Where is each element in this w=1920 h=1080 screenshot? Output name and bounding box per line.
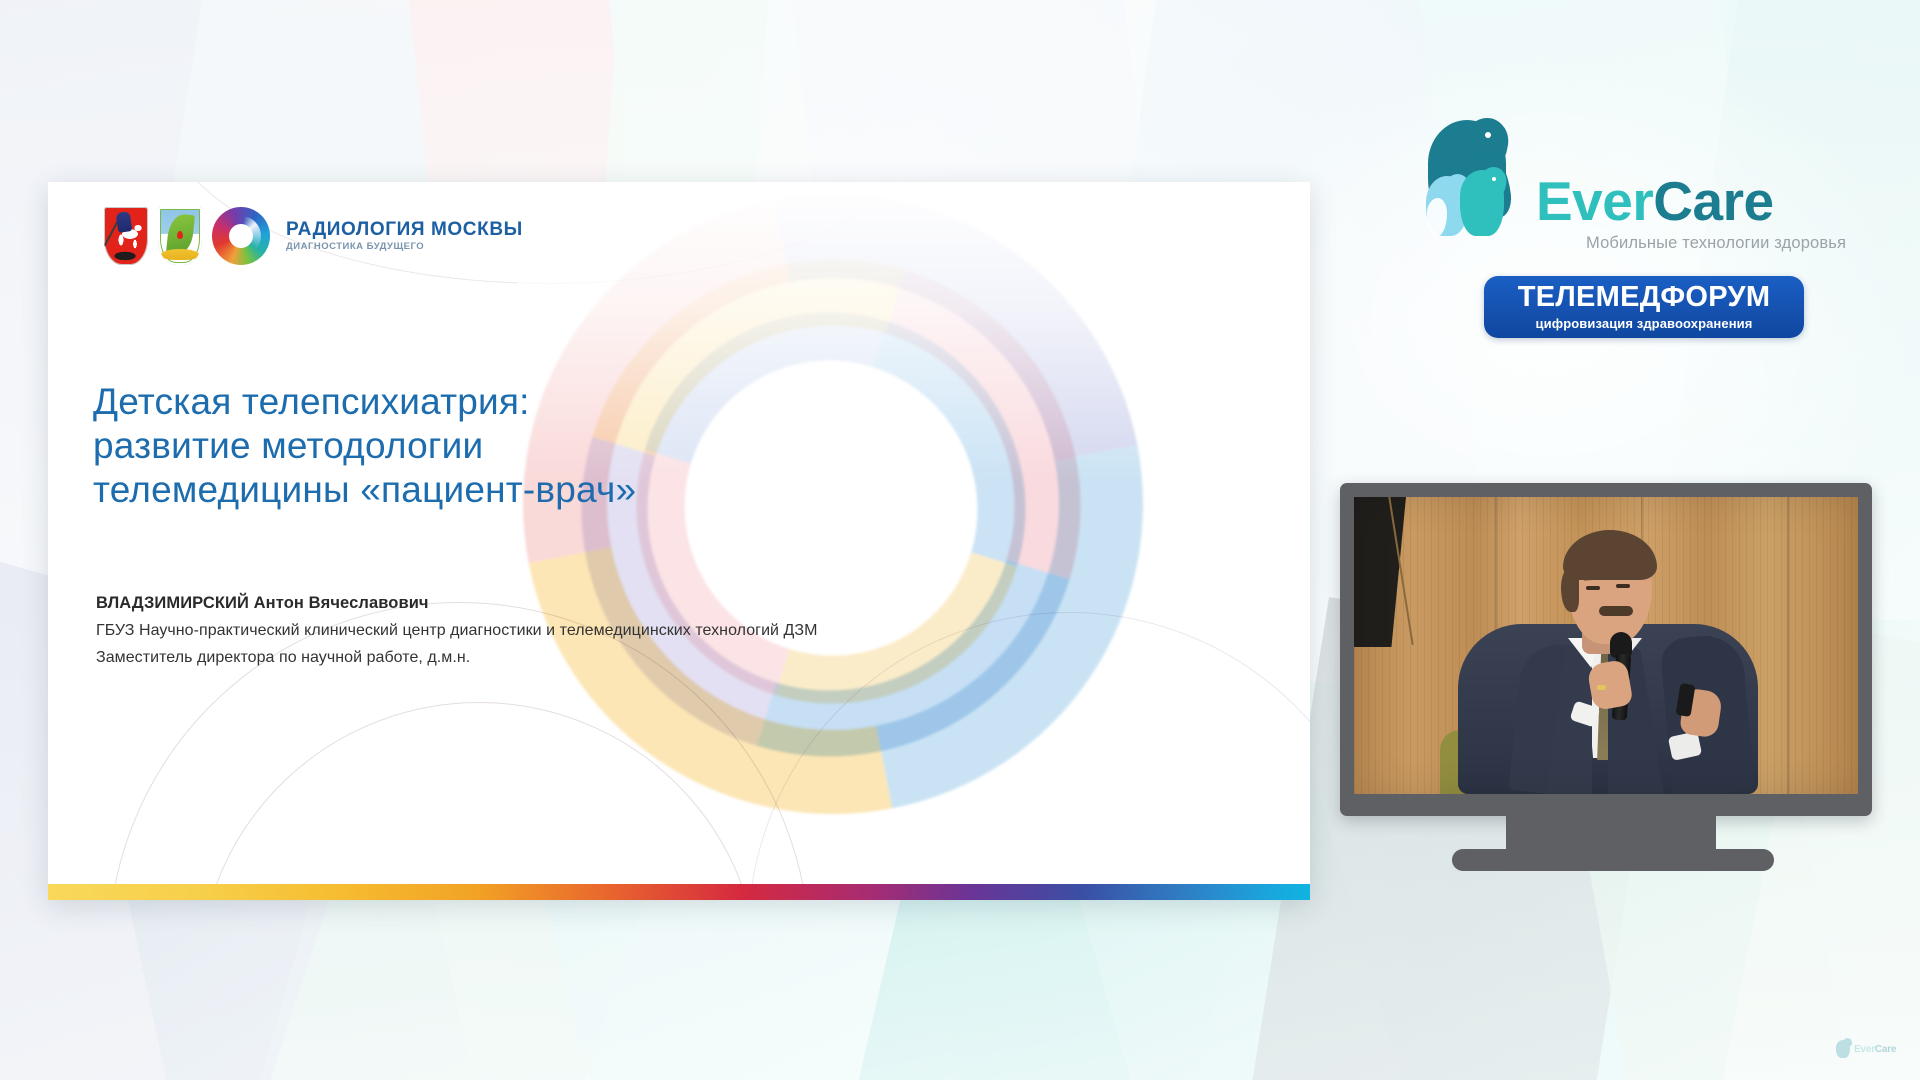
slide-title-line-3: телемедицины «пациент-врач»	[93, 468, 713, 512]
telemedforum-title: ТЕЛЕМЕДФОРУМ	[1484, 283, 1804, 312]
watermark-text: EverCare	[1854, 1044, 1896, 1055]
penguin-icon	[1836, 1040, 1850, 1058]
speaker-figure	[1450, 526, 1770, 794]
monitor-bezel	[1340, 483, 1872, 816]
radiology-brand-sub: ДИАГНОСТИКА БУДУЩЕГО	[286, 242, 523, 252]
author-affiliation: ГБУЗ Научно-практический клинический цен…	[96, 622, 996, 640]
telemedforum-subtitle: цифровизация здравоохранения	[1484, 316, 1804, 331]
presentation-slide[interactable]: РАДИОЛОГИЯ МОСКВЫ ДИАГНОСТИКА БУДУЩЕГО Д…	[48, 182, 1310, 900]
evercare-logo: EverCare Мобильные технологии здоровья	[1418, 118, 1848, 248]
author-name: ВЛАДЗИМИРСКИЙ Антон Вячеславович	[96, 594, 996, 613]
speaker-video-feed[interactable]	[1354, 497, 1858, 794]
author-surname: ВЛАДЗИМИРСКИЙ	[96, 594, 249, 612]
author-given-names: Антон Вячеславович	[249, 594, 429, 612]
author-position: Заместитель директора по научной работе,…	[96, 649, 996, 667]
presentation-stage: РАДИОЛОГИЯ МОСКВЫ ДИАГНОСТИКА БУДУЩЕГО Д…	[0, 0, 1920, 1080]
moscow-healthcare-emblem-icon	[158, 207, 202, 265]
evercare-tagline: Мобильные технологии здоровья	[1586, 234, 1846, 253]
slide-title-line-2: развитие методологии	[93, 424, 713, 468]
penguin-family-icon	[1418, 118, 1540, 238]
watermark-word-ever: Ever	[1854, 1044, 1875, 1055]
radiology-brand-text: РАДИОЛОГИЯ МОСКВЫ ДИАГНОСТИКА БУДУЩЕГО	[286, 220, 523, 253]
evercare-word-ever: Ever	[1536, 170, 1653, 232]
slide-title-line-1: Детская телепсихиатрия:	[93, 380, 713, 424]
rainbow-gradient-bar	[48, 884, 1310, 900]
monitor-stand-neck	[1506, 816, 1716, 850]
moscow-coat-of-arms-icon	[104, 207, 148, 265]
slide-title: Детская телепсихиатрия: развитие методол…	[93, 380, 713, 512]
radiology-spiral-icon	[212, 207, 270, 265]
slide-logo-row: РАДИОЛОГИЯ МОСКВЫ ДИАГНОСТИКА БУДУЩЕГО	[104, 207, 523, 265]
radiology-brand-main: РАДИОЛОГИЯ МОСКВЫ	[286, 220, 523, 240]
evercare-word-care: Care	[1653, 170, 1773, 232]
watermark-word-care: Care	[1875, 1044, 1896, 1055]
evercare-wordmark: EverCare	[1536, 174, 1774, 229]
author-block: ВЛАДЗИМИРСКИЙ Антон Вячеславович ГБУЗ На…	[96, 594, 996, 667]
telemedforum-badge: ТЕЛЕМЕДФОРУМ цифровизация здравоохранени…	[1484, 276, 1804, 338]
evercare-watermark: EverCare	[1836, 1040, 1896, 1058]
monitor-stand-base	[1452, 849, 1774, 871]
